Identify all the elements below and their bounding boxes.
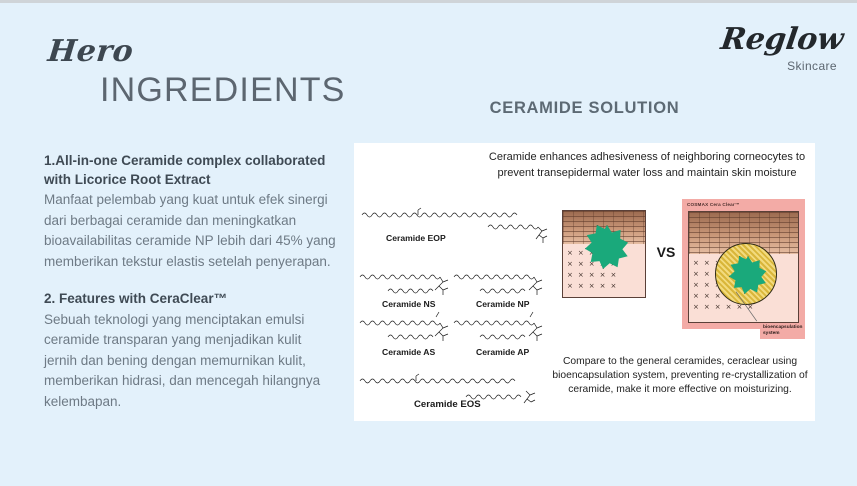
paragraph-heading: 2. Features with CeraClear™	[44, 289, 336, 308]
diagram-bottom-caption: Compare to the general ceramides, ceracl…	[552, 355, 808, 397]
skin-box-general: ××××× ××××× ××××× ×××××	[562, 210, 646, 298]
bioencapsulation-callout: bioencapsulation system	[760, 323, 805, 339]
callout-line-2: system	[763, 331, 802, 337]
ingredient-description-list: 1.All-in-one Ceramide complex collaborat…	[44, 151, 336, 429]
title-script-word: Hero	[46, 37, 134, 67]
ceramide-label-eos: Ceramide EOS	[414, 399, 481, 410]
paragraph-heading: 1.All-in-one Ceramide complex collaborat…	[44, 151, 336, 189]
ceramide-label-np: Ceramide NP	[476, 299, 530, 309]
callout-leader-line	[736, 291, 762, 327]
title-main-word: INGREDIENTS	[100, 73, 344, 107]
list-item: 1.All-in-one Ceramide complex collaborat…	[44, 151, 336, 272]
ceramide-particle-icon	[729, 256, 767, 294]
cosmax-cera-clear-tag: COSMAX Cera Clear™	[687, 202, 740, 207]
ceramide-diagram-panel: Ceramide enhances adhesiveness of neighb…	[354, 143, 815, 421]
ceramide-label-eop: Ceramide EOP	[386, 233, 446, 243]
brand-tagline: Skincare	[721, 59, 837, 73]
paragraph-text: Sebuah teknologi yang menciptakan emulsi…	[44, 310, 336, 413]
section-title: CERAMIDE SOLUTION	[354, 99, 815, 118]
ceramide-comparison-figure: ××××× ××××× ××××× ××××× VS COSMAX Cera C…	[558, 199, 810, 351]
ceramide-structures-group: Ceramide EOP Ceramide NS Ceramide NP Cer…	[358, 205, 558, 417]
brand-logo: Reglow Skincare	[721, 25, 843, 73]
paragraph-text: Manfaat pelembab yang kuat untuk efek si…	[44, 190, 336, 272]
ceramide-label-as: Ceramide AS	[382, 347, 435, 357]
page-title: Hero INGREDIENTS	[44, 37, 344, 107]
ceramide-label-ns: Ceramide NS	[382, 299, 436, 309]
diagram-top-caption: Ceramide enhances adhesiveness of neighb…	[486, 150, 808, 181]
list-item: 2. Features with CeraClear™ Sebuah tekno…	[44, 289, 336, 412]
ceramide-label-ap: Ceramide AP	[476, 347, 529, 357]
brand-name: Reglow	[719, 25, 845, 55]
vs-label: VS	[652, 244, 680, 260]
slide-canvas: Reglow Skincare Hero INGREDIENTS 1.All-i…	[0, 0, 857, 486]
